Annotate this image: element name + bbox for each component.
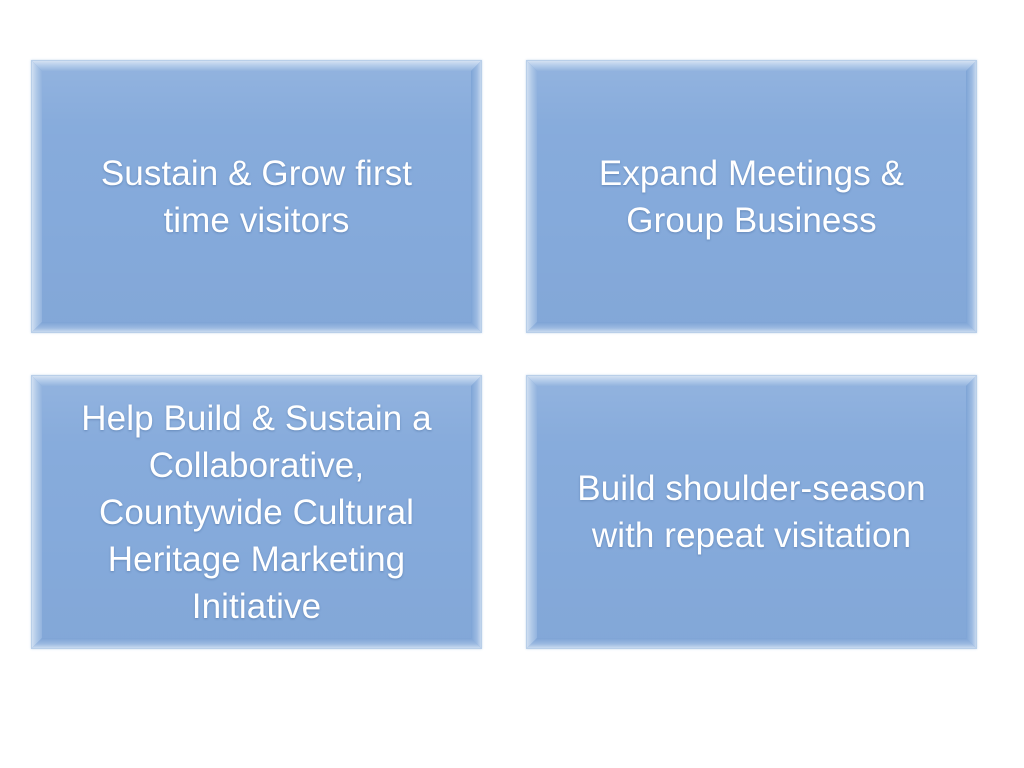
block-diagram: Sustain & Grow first time visitors Expan… bbox=[32, 61, 977, 648]
bevel-left-facet-icon bbox=[32, 376, 42, 648]
block-card-3[interactable]: Help Build & Sustain a Collaborative, Co… bbox=[32, 376, 481, 648]
block-card-1-label: Sustain & Grow first time visitors bbox=[79, 150, 434, 244]
block-card-2-label: Expand Meetings & Group Business bbox=[577, 150, 926, 244]
bevel-top-facet-icon bbox=[527, 376, 976, 386]
bevel-top-facet-icon bbox=[32, 61, 481, 71]
bevel-right-facet-icon bbox=[966, 61, 976, 332]
bevel-left-facet-icon bbox=[32, 61, 42, 332]
bevel-right-facet-icon bbox=[471, 376, 481, 648]
bevel-right-facet-icon bbox=[966, 376, 976, 648]
block-card-3-label: Help Build & Sustain a Collaborative, Co… bbox=[59, 395, 453, 630]
block-card-4[interactable]: Build shoulder-season with repeat visita… bbox=[527, 376, 976, 648]
bevel-top-facet-icon bbox=[527, 61, 976, 71]
bevel-bottom-facet-icon bbox=[32, 322, 481, 332]
bevel-bottom-facet-icon bbox=[32, 638, 481, 648]
slide-canvas: Sustain & Grow first time visitors Expan… bbox=[0, 0, 1024, 768]
block-card-2[interactable]: Expand Meetings & Group Business bbox=[527, 61, 976, 332]
bevel-left-facet-icon bbox=[527, 61, 537, 332]
bevel-top-facet-icon bbox=[32, 376, 481, 386]
block-card-1[interactable]: Sustain & Grow first time visitors bbox=[32, 61, 481, 332]
bevel-left-facet-icon bbox=[527, 376, 537, 648]
block-card-4-label: Build shoulder-season with repeat visita… bbox=[555, 465, 947, 559]
bevel-bottom-facet-icon bbox=[527, 638, 976, 648]
bevel-bottom-facet-icon bbox=[527, 322, 976, 332]
bevel-right-facet-icon bbox=[471, 61, 481, 332]
